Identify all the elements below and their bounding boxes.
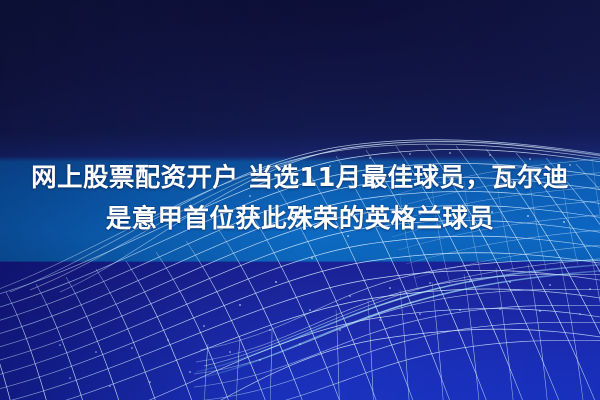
headline: 网上股票配资开户 当选11月最佳球员，瓦尔迪 是意甲首位获此殊荣的英格兰球员 xyxy=(0,158,600,240)
headline-line-2: 是意甲首位获此殊荣的英格兰球员 xyxy=(0,199,600,240)
banner-image: 网上股票配资开户 当选11月最佳球员，瓦尔迪 是意甲首位获此殊荣的英格兰球员 xyxy=(0,0,600,400)
headline-line-1: 网上股票配资开户 当选11月最佳球员，瓦尔迪 xyxy=(0,158,600,199)
background-lower-panel xyxy=(0,262,600,400)
